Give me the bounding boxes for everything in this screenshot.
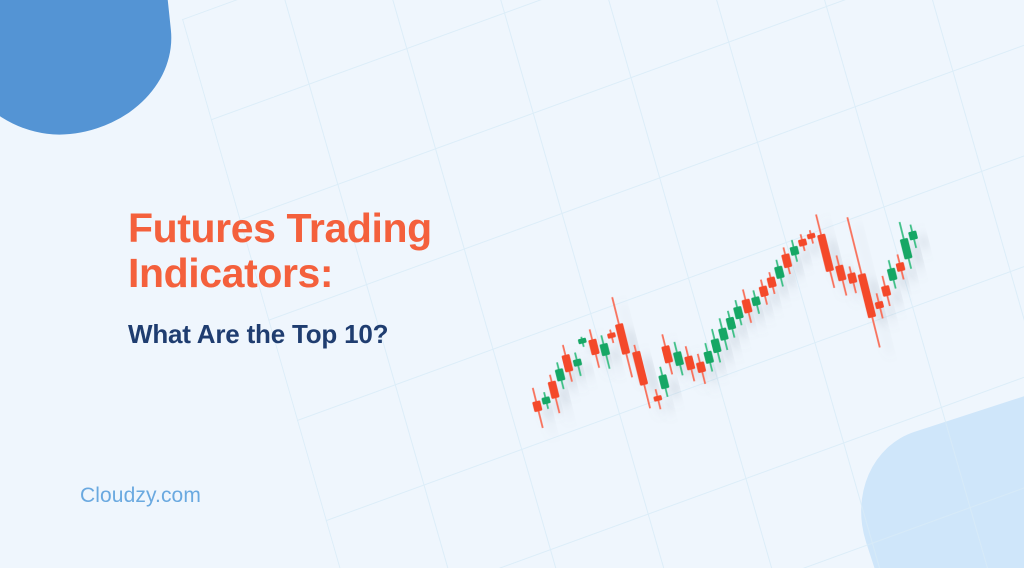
candlestick-4 (559, 344, 576, 383)
top-left-blob-decoration (0, 0, 181, 146)
candlestick-29 (788, 239, 801, 263)
candlestick-19 (708, 328, 724, 363)
candlestick-17 (694, 353, 709, 385)
banner-canvas: Futures Trading Indicators: What Are the… (0, 0, 1024, 568)
bottom-right-blob-decoration (838, 390, 1024, 568)
candlestick-12 (652, 388, 665, 410)
brand-label: Cloudzy.com (80, 484, 201, 508)
candlestick-18 (701, 342, 716, 372)
candlestick-7 (586, 328, 604, 368)
candlestick-5 (571, 352, 585, 377)
candlestick-21 (724, 310, 739, 339)
candlestick-23 (739, 288, 755, 323)
candlestick-11 (630, 344, 654, 409)
headline-block: Futures Trading Indicators: What Are the… (128, 206, 548, 350)
candlestick-30 (797, 233, 809, 252)
candlestick-15 (670, 341, 686, 376)
page-subtitle: What Are the Top 10? (128, 318, 548, 350)
candlestick-14 (658, 333, 676, 375)
candlestick-16 (682, 345, 699, 382)
candlestick-36 (873, 292, 887, 319)
page-title: Futures Trading Indicators: (128, 206, 548, 296)
candlestick-24 (749, 289, 763, 314)
candlestick-8 (597, 334, 613, 369)
candlestick-10 (608, 296, 636, 378)
candlestick-34 (845, 265, 860, 294)
candlestick-13 (656, 366, 671, 398)
candlestick-38 (885, 259, 900, 289)
candlestick-2 (546, 374, 564, 414)
candlestick-32 (812, 213, 838, 288)
candlestick-40 (896, 221, 916, 270)
candlestick-37 (878, 275, 893, 307)
candlestick-31 (806, 229, 817, 244)
candlestick-41 (906, 224, 920, 249)
candlestick-33 (832, 254, 850, 296)
candlestick-26 (765, 271, 778, 295)
candlestick-35 (843, 216, 883, 348)
candlestick-20 (715, 317, 731, 351)
candlestick-39 (893, 253, 907, 280)
candlestick-22 (731, 299, 745, 326)
candlestick-0 (529, 387, 547, 429)
candlestick-25 (757, 279, 771, 306)
candlestick-3 (553, 361, 568, 390)
candlestick-6 (577, 336, 587, 348)
candlestick-27 (772, 259, 787, 288)
candlestick-28 (779, 246, 794, 275)
candlestick-9 (606, 329, 617, 344)
candlestick-1 (540, 391, 552, 410)
